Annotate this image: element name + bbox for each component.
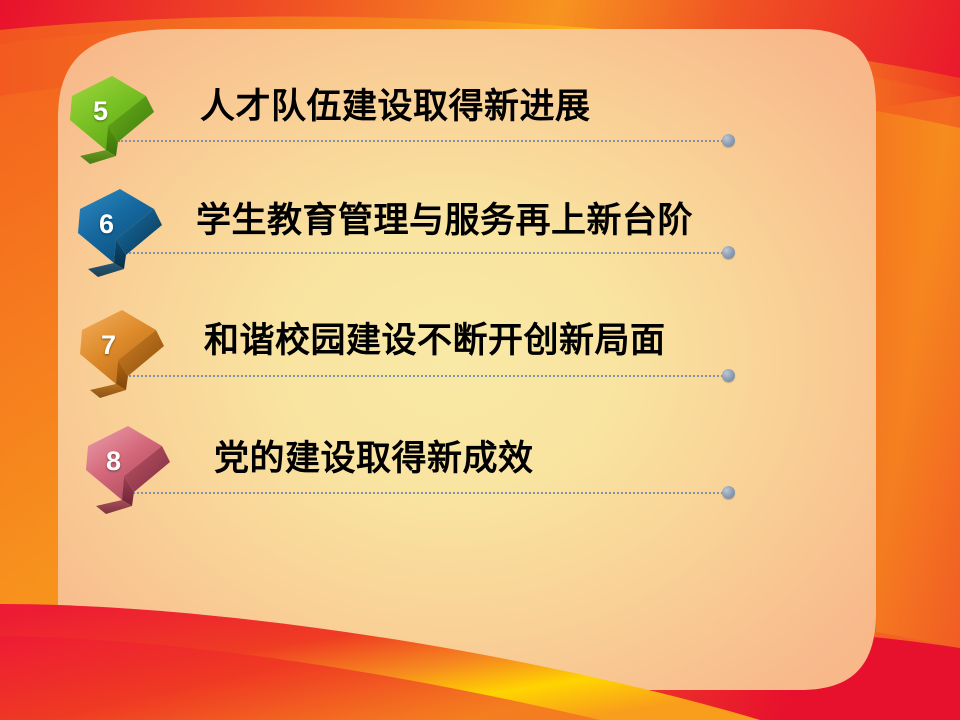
list-item[interactable]: 7 和谐校园建设不断开创新局面 <box>0 294 960 414</box>
list-item-title: 党的建设取得新成效 <box>214 440 534 479</box>
numbered-cube-blue <box>76 181 172 273</box>
list-item-title: 和谐校园建设不断开创新局面 <box>204 322 666 361</box>
row-dotted-rule <box>118 375 726 377</box>
list-item-title: 人才队伍建设取得新进展 <box>200 88 591 127</box>
list-item[interactable]: 6 学生教育管理与服务再上新台阶 <box>0 178 960 298</box>
list-item-title: 学生教育管理与服务再上新台阶 <box>196 202 693 241</box>
list-item[interactable]: 5 人才队伍建设取得新进展 <box>0 60 960 180</box>
numbered-cube-rose <box>84 418 180 510</box>
numbered-cube-orange <box>78 302 174 394</box>
row-end-dot <box>722 486 735 499</box>
row-end-dot <box>722 369 735 382</box>
list-item[interactable]: 8 党的建设取得新成效 <box>0 410 960 530</box>
slide-canvas: 5 人才队伍建设取得新进展 <box>0 0 960 720</box>
agenda-list: 5 人才队伍建设取得新进展 <box>0 0 960 720</box>
row-end-dot <box>722 134 735 147</box>
row-dotted-rule <box>118 252 726 254</box>
row-end-dot <box>722 246 735 259</box>
row-dotted-rule <box>118 492 726 494</box>
numbered-cube-green <box>68 68 164 160</box>
row-dotted-rule <box>118 140 726 142</box>
